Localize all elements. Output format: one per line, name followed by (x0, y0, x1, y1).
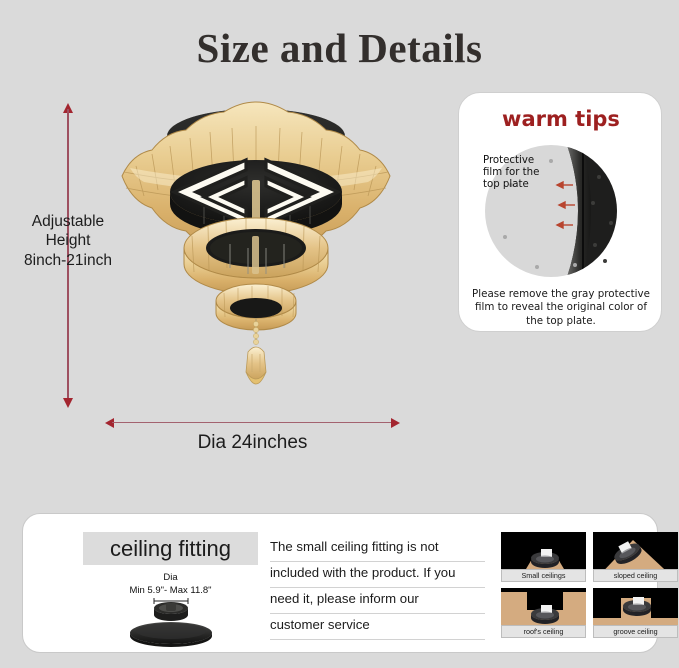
infographic-page: Size and Details Adjustable Height 8inch… (0, 0, 679, 668)
thumbnail-label: sloped ceiling (593, 569, 678, 582)
thumbnail-roofs-ceiling[interactable]: roof's ceiling (501, 588, 586, 638)
dimension-line-horizontal (112, 422, 393, 423)
film-label-line-2: film for the (483, 167, 571, 179)
arrow-head-down-icon (63, 398, 73, 408)
thumbnail-sloped-ceiling[interactable]: sloped ceiling (593, 532, 678, 582)
thumbnail-label: groove ceiling (593, 625, 678, 638)
ceiling-fitting-dimensions: Dia Min 5.9"- Max 11.8" (83, 572, 258, 598)
thumbnail-label: roof's ceiling (501, 625, 586, 638)
note-line: included with the product. If you (270, 562, 485, 588)
note-line: customer service (270, 614, 485, 640)
warm-tips-caption: Please remove the gray protective film t… (465, 288, 657, 328)
dia-range: Min 5.9"- Max 11.8" (83, 585, 258, 598)
caption-line-1: Please remove the gray protective (465, 288, 657, 301)
diameter-dimension-arrow (105, 416, 400, 430)
ceiling-fitting-note: The small ceiling fitting is not include… (270, 536, 485, 640)
note-line: The small ceiling fitting is not (270, 536, 485, 562)
film-label-line-1: Protective (483, 155, 571, 167)
warm-tips-title: warm tips (459, 107, 663, 131)
thumbnail-small-ceilings[interactable]: Small ceilings (501, 532, 586, 582)
warm-tips-panel: warm tips (458, 92, 662, 332)
caption-line-3: the top plate. (465, 315, 657, 328)
film-label-line-3: top plate (483, 179, 571, 191)
ceiling-fitting-panel: ceiling fitting Dia Min 5.9"- Max 11.8" (22, 513, 658, 653)
diameter-dimension-label: Dia 24inches (105, 432, 400, 454)
page-title: Size and Details (0, 24, 679, 72)
dia-label: Dia (83, 572, 258, 585)
ceiling-type-thumbnails: Small ceilings sloped cei (501, 532, 679, 638)
thumbnail-groove-ceiling[interactable]: groove ceiling (593, 588, 678, 638)
arrow-head-right-icon (391, 418, 400, 428)
note-line: need it, please inform our (270, 588, 485, 614)
ceiling-fitting-title: ceiling fitting (83, 532, 258, 565)
ceiling-fitting-illustration (118, 597, 223, 647)
protective-film-label: Protective film for the top plate (483, 155, 571, 191)
thumbnail-label: Small ceilings (501, 569, 586, 582)
caption-line-2: film to reveal the original color of (465, 301, 657, 314)
chandelier-illustration (96, 96, 416, 408)
